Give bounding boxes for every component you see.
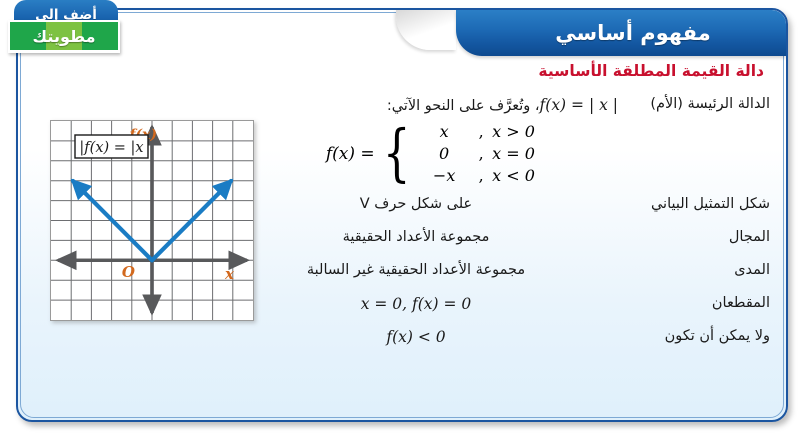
row-value-intercepts: x = 0, f(x) = 0	[214, 293, 618, 313]
piecewise-cases: x , x > 0 0 , x = 0 −x , x < 0	[418, 122, 578, 185]
case-condition: x < 0	[492, 166, 578, 185]
table-row: المجال مجموعة الأعداد الحقيقية	[214, 227, 770, 251]
row-label-main-function: الدالة الرئيسة (الأم)	[618, 94, 770, 112]
piecewise-case: −x , x < 0	[418, 166, 578, 185]
foldable-notebook-icon	[8, 20, 120, 53]
concept-card: مفهوم أساسي دالة القيمة المطلقة الأساسية	[16, 8, 788, 422]
case-expression: x	[418, 122, 470, 141]
piecewise-case: 0 , x = 0	[418, 144, 578, 163]
row-label-graph-shape: شكل التمثيل البياني	[618, 194, 770, 212]
piecewise-case: x , x > 0	[418, 122, 578, 141]
notebook-panel	[46, 22, 82, 50]
piecewise-brace: {	[383, 128, 411, 179]
row-value-graph-shape: على شكل حرف V	[214, 194, 618, 212]
section-subtitle: دالة القيمة المطلقة الأساسية	[538, 62, 764, 80]
table-row: المقطعان x = 0, f(x) = 0	[214, 293, 770, 317]
function-label-box: f(x) = |x|	[75, 135, 148, 158]
header-banner-title: مفهوم أساسي	[531, 21, 710, 45]
foldable-tab[interactable]: أضف إلى مطويتك	[0, 0, 120, 58]
main-function-equation: f(x) = | x |	[540, 96, 618, 114]
table-row: ولا يمكن أن تكون f(x) < 0	[214, 326, 770, 350]
case-comma: ,	[470, 144, 492, 163]
main-function-suffix: ، وتُعرَّف على النحو الآتي:	[387, 98, 540, 114]
piecewise-lhs: f(x) =	[326, 144, 375, 164]
row-value-main-function: f(x) = | x |، وتُعرَّف على النحو الآتي:	[214, 94, 618, 114]
table-row: شكل التمثيل البياني على شكل حرف V	[214, 194, 770, 218]
graph-origin-label: O	[122, 263, 135, 281]
piecewise-definition: f(x) = { x , x > 0 0 , x = 0 −x	[214, 122, 770, 185]
table-row: المدى مجموعة الأعداد الحقيقية غير السالب…	[214, 260, 770, 284]
row-value-range: مجموعة الأعداد الحقيقية غير السالبة	[214, 260, 618, 278]
function-label: f(x) = |x|	[79, 140, 143, 156]
page-root: مفهوم أساسي دالة القيمة المطلقة الأساسية	[0, 0, 804, 441]
row-label-cannot-be: ولا يمكن أن تكون	[618, 326, 770, 344]
case-comma: ,	[470, 122, 492, 141]
table-row: الدالة الرئيسة (الأم) f(x) = | x |، وتُع…	[214, 94, 770, 118]
case-condition: x > 0	[492, 122, 578, 141]
case-expression: 0	[418, 144, 470, 163]
banner-page-curl	[396, 10, 456, 50]
row-label-range: المدى	[618, 260, 770, 278]
row-value-cannot-be: f(x) < 0	[214, 326, 618, 346]
case-expression: −x	[418, 166, 470, 185]
case-comma: ,	[470, 166, 492, 185]
concept-rows: الدالة الرئيسة (الأم) f(x) = | x |، وتُع…	[214, 94, 770, 350]
row-value-domain: مجموعة الأعداد الحقيقية	[214, 227, 618, 245]
notebook-panel	[82, 22, 118, 50]
origin-label: O	[122, 263, 135, 281]
row-label-domain: المجال	[618, 227, 770, 245]
row-label-intercepts: المقطعان	[618, 293, 770, 311]
case-condition: x = 0	[492, 144, 578, 163]
header-banner: مفهوم أساسي	[456, 10, 786, 56]
notebook-panel	[10, 22, 46, 50]
